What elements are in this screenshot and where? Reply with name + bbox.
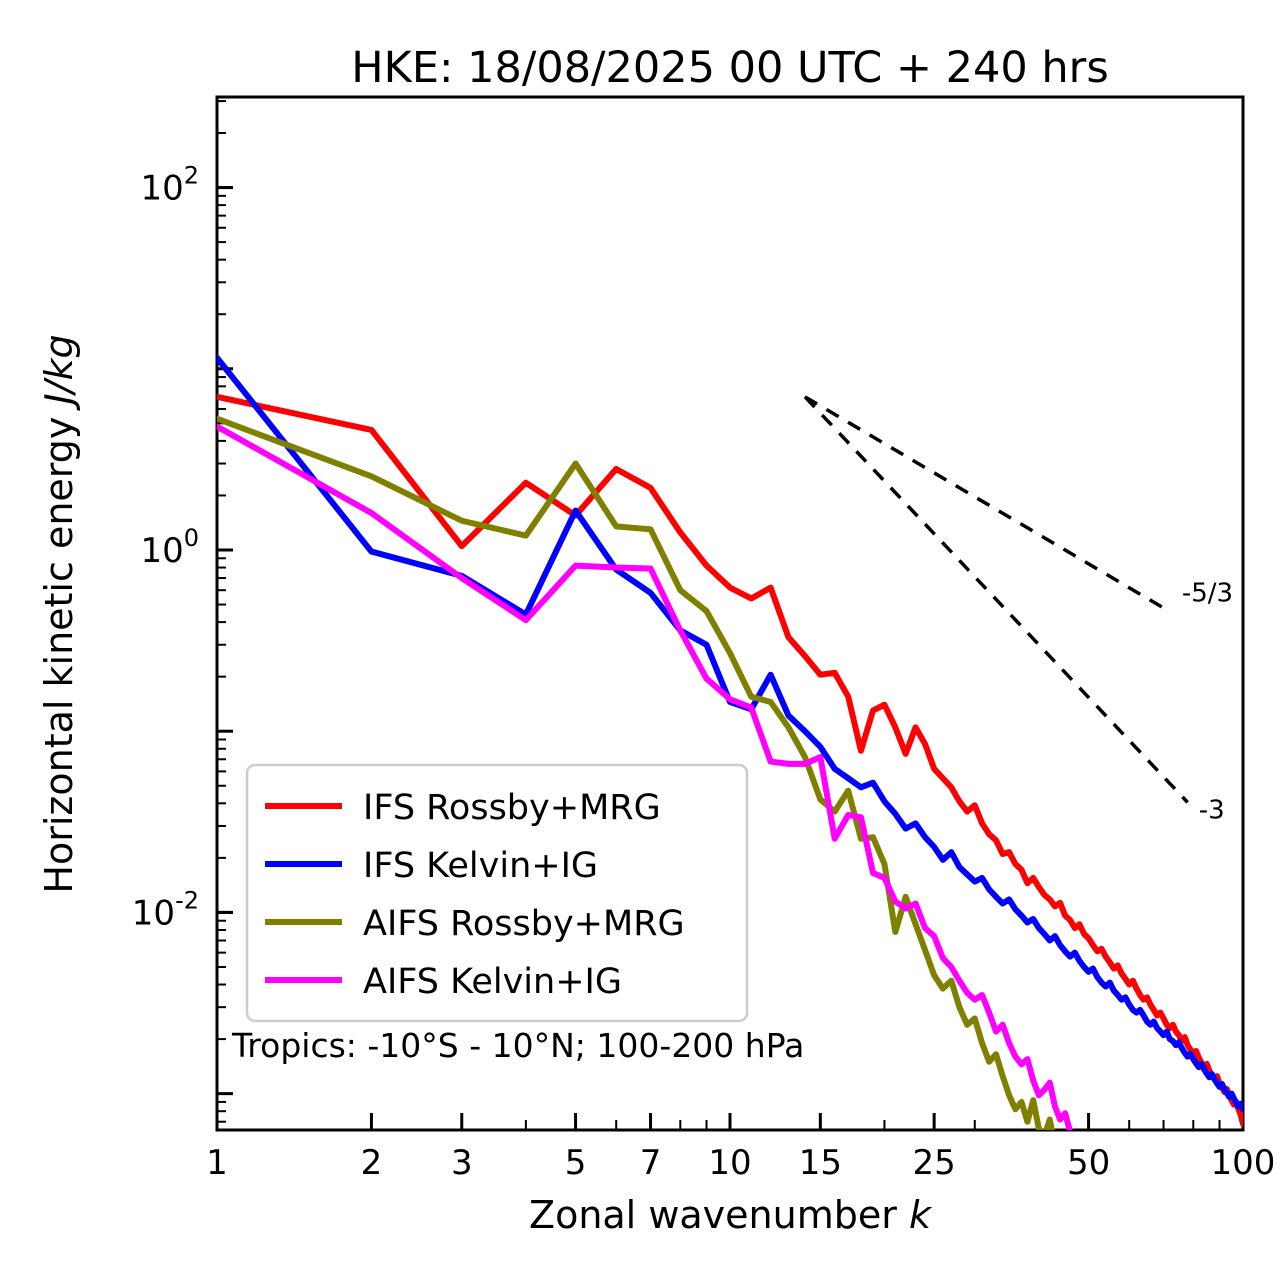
x-tick-label: 3 xyxy=(451,1143,473,1183)
x-tick-label: 25 xyxy=(913,1143,956,1183)
x-axis-label: Zonal wavenumber k xyxy=(529,1193,933,1237)
hke-spectrum-figure: HKE: 18/08/2025 00 UTC + 240 hrs 1021001… xyxy=(0,0,1280,1288)
figure-background xyxy=(0,0,1280,1288)
chart-title: HKE: 18/08/2025 00 UTC + 240 hrs xyxy=(351,43,1108,93)
slope-label: -3 xyxy=(1199,795,1225,825)
x-tick-label: 10 xyxy=(708,1143,751,1183)
legend[interactable]: IFS Rossby+MRGIFS Kelvin+IGAIFS Rossby+M… xyxy=(247,765,747,1021)
x-tick-label: 50 xyxy=(1067,1143,1110,1183)
x-tick-label: 2 xyxy=(361,1143,383,1183)
legend-label[interactable]: IFS Rossby+MRG xyxy=(363,788,661,828)
legend-label[interactable]: IFS Kelvin+IG xyxy=(363,846,598,886)
x-tick-label: 100 xyxy=(1211,1143,1276,1183)
x-tick-label: 1 xyxy=(206,1143,228,1183)
y-axis-label: Horizontal kinetic energy J/kg xyxy=(37,334,81,893)
x-tick-label: 5 xyxy=(565,1143,587,1183)
slope-label: -5/3 xyxy=(1182,578,1233,608)
region-annotation: Tropics: -10°S - 10°N; 100-200 hPa xyxy=(231,1026,804,1065)
legend-label[interactable]: AIFS Kelvin+IG xyxy=(363,962,622,1002)
x-tick-label: 15 xyxy=(799,1143,842,1183)
x-tick-label: 7 xyxy=(640,1143,662,1183)
legend-label[interactable]: AIFS Rossby+MRG xyxy=(363,904,685,944)
